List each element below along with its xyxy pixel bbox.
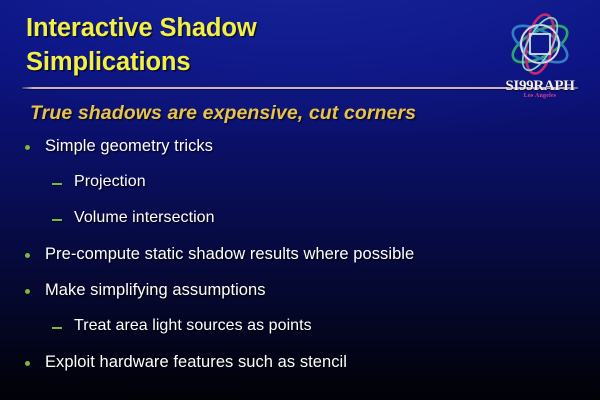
list-item-label: Exploit hardware features such as stenci… [45, 352, 347, 373]
list-item: Make simplifying assumptions [0, 280, 600, 316]
list-item-label: Simple geometry tricks [45, 136, 213, 157]
presentation-slide: Interactive Shadow Simplications True sh… [0, 0, 600, 400]
list-item-label: Make simplifying assumptions [45, 280, 266, 301]
slide-title: Interactive Shadow Simplications [26, 12, 356, 80]
bullet-dash-icon [52, 208, 74, 232]
bullet-dot-icon [23, 244, 45, 268]
title-line-1: Interactive Shadow [26, 12, 356, 46]
list-item-label: Volume intersection [74, 208, 215, 228]
list-item-label: Projection [74, 172, 146, 192]
list-item-label: Pre-compute static shadow results where … [45, 244, 414, 265]
bullet-dash-icon [52, 316, 74, 340]
bullet-dot-icon [23, 352, 45, 376]
list-item: Pre-compute static shadow results where … [0, 244, 600, 280]
bullet-list: Simple geometry tricks Projection Volume… [0, 136, 600, 388]
bullet-dot-icon [23, 280, 45, 304]
list-item: Volume intersection [0, 208, 600, 244]
siggraph-logo: SI99RAPH Los Angeles [488, 4, 592, 104]
siggraph-city-label: Los Angeles [488, 93, 592, 99]
bullet-dash-icon [52, 172, 74, 196]
slide-subtitle: True shadows are expensive, cut corners [30, 102, 416, 125]
list-item: Treat area light sources as points [0, 316, 600, 352]
title-line-2: Simplications [26, 46, 356, 80]
bullet-dot-icon [23, 136, 45, 160]
list-item: Exploit hardware features such as stenci… [0, 352, 600, 388]
list-item-label: Treat area light sources as points [74, 316, 312, 336]
list-item: Simple geometry tricks [0, 136, 600, 172]
list-item: Projection [0, 172, 600, 208]
siggraph-rings-icon [488, 4, 592, 80]
